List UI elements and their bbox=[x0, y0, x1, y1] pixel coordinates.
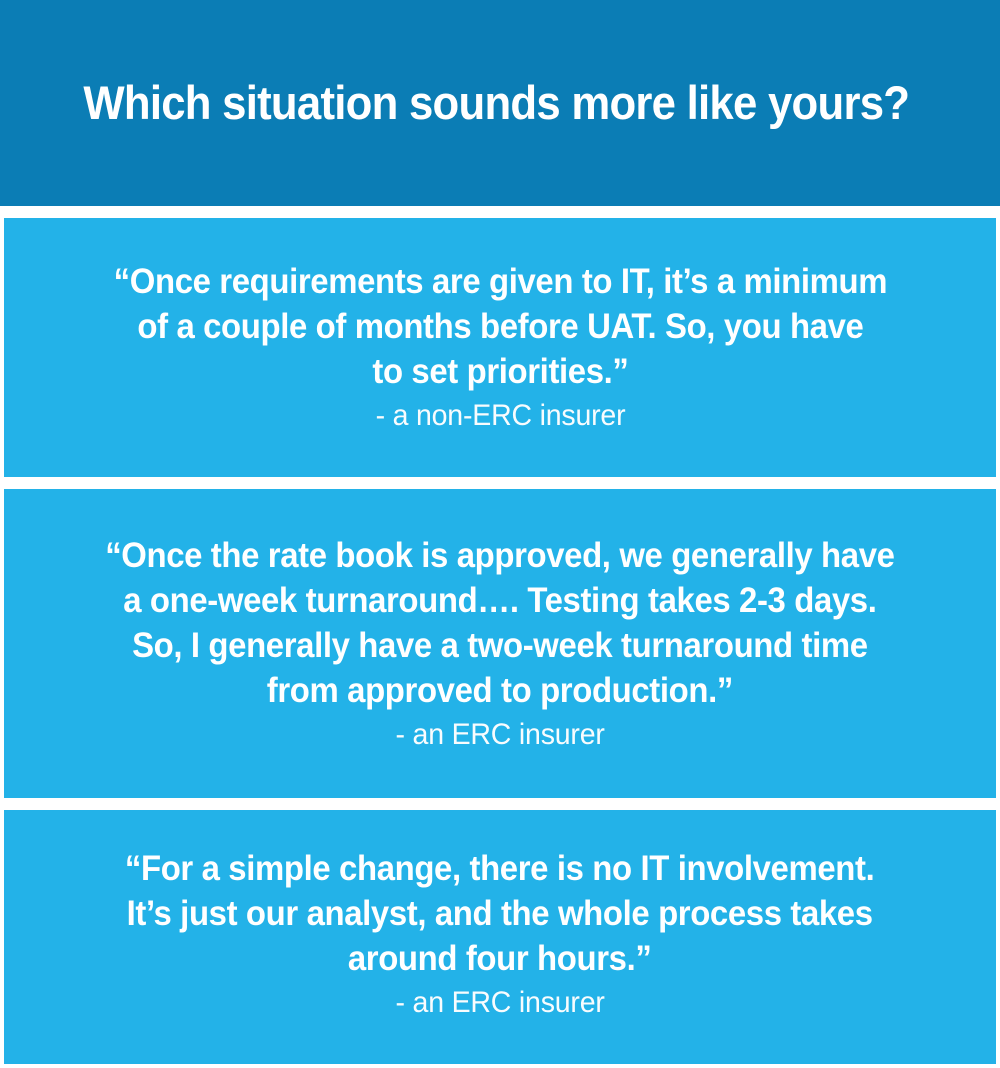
quote-panel-1: “Once requirements are given to IT, it’s… bbox=[4, 218, 996, 477]
slide-root: Which situation sounds more like yours? … bbox=[0, 0, 1000, 1068]
quote-attribution: - a non-ERC insurer bbox=[375, 396, 625, 436]
quote-panel-3: “For a simple change, there is no IT inv… bbox=[4, 810, 996, 1058]
quote-text: “For a simple change, there is no IT inv… bbox=[88, 846, 913, 981]
quote-panel-2: “Once the rate book is approved, we gene… bbox=[4, 489, 996, 798]
quote-text: “Once the rate book is approved, we gene… bbox=[68, 533, 933, 713]
quote-attribution: - an ERC insurer bbox=[395, 983, 604, 1023]
quote-attribution: - an ERC insurer bbox=[395, 715, 604, 755]
page-title: Which situation sounds more like yours? bbox=[83, 77, 916, 129]
header-band: Which situation sounds more like yours? bbox=[0, 0, 1000, 206]
quote-text: “Once requirements are given to IT, it’s… bbox=[76, 259, 925, 394]
bottom-panel-edge bbox=[4, 1058, 996, 1064]
